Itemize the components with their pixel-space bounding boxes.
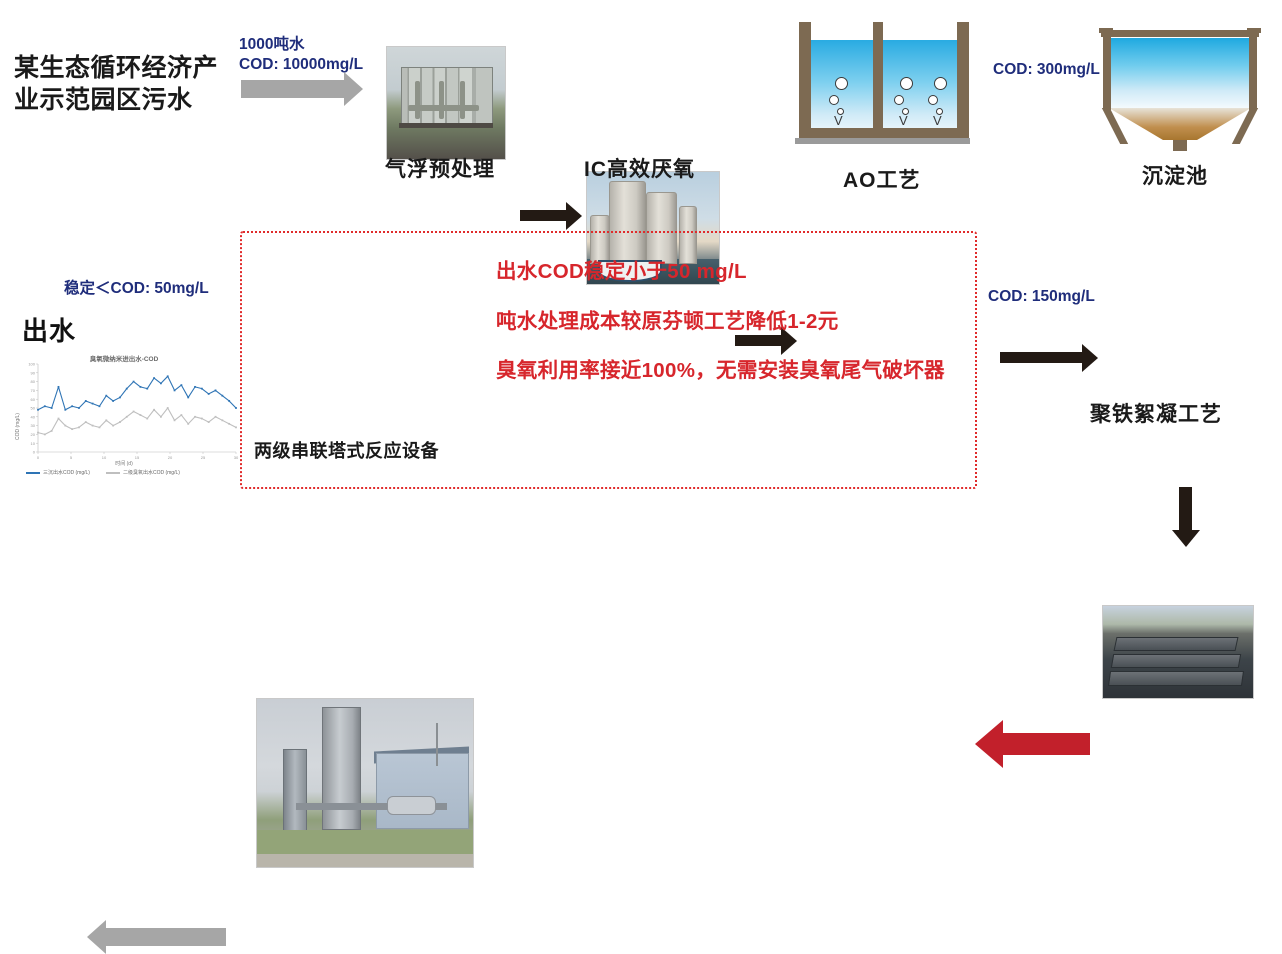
tower-reactor-column-1 (322, 707, 361, 830)
stage-label-daf: 气浮预处理 (385, 153, 495, 183)
claim-item: 出水COD稳定小于50 mg/L (496, 258, 956, 286)
effluent-label: 出水 (22, 311, 76, 348)
tower-utility-pole (436, 723, 438, 767)
svg-text:70: 70 (31, 388, 36, 393)
ao-diffuser-icon: V (933, 114, 942, 127)
tower-reactor-photo (256, 698, 474, 868)
svg-text:20: 20 (31, 432, 36, 437)
ao-bubble-icon (829, 95, 839, 105)
settling-outlet (1173, 140, 1187, 151)
settling-bracket-left (1099, 28, 1113, 33)
daf-pipe-4 (460, 81, 465, 119)
ao-bubble-icon (894, 95, 904, 105)
svg-text:50: 50 (31, 406, 36, 411)
svg-text:10: 10 (31, 441, 36, 446)
flow-arrow-4-icon (1179, 487, 1192, 532)
ao-diffuser-icon: V (899, 114, 908, 127)
chart-legend-marker (26, 472, 40, 474)
ao-wall-right (957, 22, 969, 135)
chart-legend-label: 二级臭氧出水COD (mg/L) (123, 469, 180, 476)
ao-bubble-icon (934, 77, 947, 90)
svg-text:5: 5 (70, 455, 73, 460)
ao-water-chamber-2 (883, 40, 957, 135)
svg-text:100: 100 (28, 362, 35, 367)
tower-building (376, 753, 469, 829)
effluent-cod-label: 稳定＜COD: 50mg/L (64, 279, 209, 299)
flocculation-lane (1108, 671, 1244, 686)
svg-text:0: 0 (37, 455, 40, 460)
svg-text:30: 30 (234, 455, 239, 460)
inflow-cod-label: 1000吨水 COD: 10000mg/L (239, 35, 363, 76)
daf-frame (399, 123, 493, 127)
chart-legend-marker (106, 472, 120, 474)
tower-reactor-caption: 两级串联塔式反应设备 (254, 437, 439, 463)
source-water-title: 某生态循环经济产 业示范园区污水 (14, 52, 218, 116)
settling-bracket-right (1247, 28, 1261, 33)
settling-tank-diagram (1099, 28, 1262, 153)
svg-text:90: 90 (31, 370, 36, 375)
svg-text:80: 80 (31, 379, 36, 384)
daf-pipe-3 (439, 81, 444, 119)
flocculation-lane (1111, 654, 1241, 668)
claim-item: 吨水处理成本较原芬顿工艺降低1-2元 (496, 308, 956, 336)
settling-water-body (1109, 38, 1251, 108)
ao-diffuser-icon: V (834, 114, 843, 127)
settling-sludge-cone (1109, 108, 1251, 140)
stage-label-settling: 沉淀池 (1142, 160, 1208, 190)
daf-pipe-2 (415, 81, 420, 119)
tower-reactor-column-2 (283, 749, 307, 832)
svg-text:0: 0 (33, 450, 36, 455)
inflow-arrow-icon (241, 80, 346, 98)
flocculation-sky (1103, 606, 1253, 624)
cod-after-settling-label: COD: 150mg/L (988, 287, 1095, 307)
source-title-line-2: 业示范园区污水 (14, 84, 218, 116)
ao-tank-floor (799, 128, 969, 138)
ao-bubble-icon (835, 77, 848, 90)
settling-wall-left (1103, 32, 1111, 110)
settling-rim (1101, 30, 1259, 37)
svg-text:30: 30 (31, 423, 36, 428)
chart-plot: 0102030405060708090100051015202530 (8, 352, 240, 484)
inflow-volume-text: 1000吨水 (239, 35, 363, 55)
flocculation-photo (1102, 605, 1254, 699)
tower-skid-tank (387, 796, 437, 815)
cod-after-ao-label: COD: 300mg/L (993, 60, 1100, 80)
svg-text:10: 10 (102, 455, 107, 460)
chart-legend-label: 三沉出水COD (mg/L) (43, 469, 90, 476)
svg-text:20: 20 (168, 455, 173, 460)
effluent-cod-chart: 臭氧微纳米进出水-COD COD (mg/L) 时间 (d) 010203040… (8, 352, 240, 484)
ao-wall-middle (873, 22, 883, 135)
ao-tank-diagram: V V V (795, 22, 970, 152)
ao-bubble-icon (928, 95, 938, 105)
tower-road (257, 854, 473, 867)
settling-wall-right (1249, 32, 1257, 110)
highlight-claims: 出水COD稳定小于50 mg/L 吨水处理成本较原芬顿工艺降低1-2元 臭氧利用… (496, 258, 956, 385)
source-title-line-1: 某生态循环经济产 (14, 52, 218, 84)
flow-arrow-red-icon (1002, 733, 1090, 755)
ao-wall-left (799, 22, 811, 135)
ao-bubble-icon (900, 77, 913, 90)
effluent-arrow-icon (104, 928, 226, 946)
stage-label-flocculation: 聚铁絮凝工艺 (1090, 398, 1222, 428)
flocculation-lane (1114, 637, 1239, 651)
ao-tank-base (795, 138, 970, 144)
claim-item: 臭氧利用率接近100%，无需安装臭氧尾气破坏器 (496, 357, 956, 385)
stage-label-anaerobic: IC高效厌氧 (584, 153, 695, 183)
flow-arrow-1-icon (520, 210, 568, 221)
svg-text:25: 25 (201, 455, 206, 460)
svg-text:15: 15 (135, 455, 140, 460)
svg-text:60: 60 (31, 397, 36, 402)
stage-label-ao: AO工艺 (843, 164, 921, 194)
svg-text:40: 40 (31, 414, 36, 419)
flow-arrow-3-icon (1000, 352, 1084, 363)
chart-legend: 三沉出水COD (mg/L) 二级臭氧出水COD (mg/L) (26, 469, 180, 476)
daf-photo (386, 46, 506, 160)
